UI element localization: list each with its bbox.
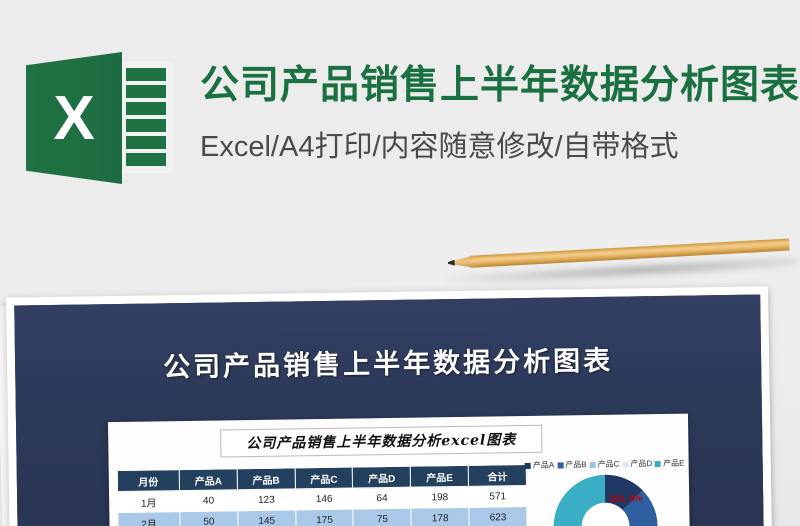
preview-card[interactable]: 公司产品销售上半年数据分析图表 公司产品销售上半年数据分析excel图表 月份 … <box>6 286 772 526</box>
table-cell: 40 <box>180 490 238 512</box>
table-col-header: 产品E <box>410 465 468 487</box>
excel-logo-letter: X <box>26 52 122 184</box>
legend-swatch <box>525 463 531 469</box>
brand-row: X 公司产品销售上半年数据分析图表 Excel/A4打印/内容随意修改/自带格式 <box>26 52 800 184</box>
table-cell: 1月 <box>118 491 180 513</box>
worksheet-title: 公司产品销售上半年数据分析excel图表 <box>246 429 516 453</box>
legend-label: 产品C <box>598 461 620 469</box>
table-col-header: 产品C <box>295 467 353 489</box>
page-title: 公司产品销售上半年数据分析图表 <box>200 64 800 109</box>
donut-graphic: 332, 9% 1221, <box>553 474 659 526</box>
worksheet-title-box: 公司产品销售上半年数据分析excel图表 <box>220 425 542 458</box>
table-col-header: 月份 <box>117 470 179 492</box>
donut-label: 332, 9% <box>609 494 642 504</box>
legend-item: 产品D <box>622 460 652 468</box>
legend-item: 产品A <box>525 462 554 470</box>
pencil-tip-wood <box>452 256 475 269</box>
preview-title: 公司产品销售上半年数据分析图表 <box>15 336 761 386</box>
legend-item: 产品E <box>655 460 684 468</box>
chart-legend: 产品A 产品B 产品C <box>529 458 681 470</box>
table-cell: 2月 <box>118 512 180 526</box>
legend-swatch <box>622 461 628 467</box>
preview-card-inner: 公司产品销售上半年数据分析图表 公司产品销售上半年数据分析excel图表 月份 … <box>14 294 764 526</box>
table-cell: 198 <box>411 486 469 508</box>
table-col-header: 产品D <box>353 466 411 488</box>
preview-card-stack: 公司产品销售上半年数据分析图表 公司产品销售上半年数据分析excel图表 月份 … <box>0 288 776 526</box>
legend-label: 产品E <box>663 460 684 468</box>
table-cell: 123 <box>237 489 295 511</box>
table-cell: 50 <box>180 511 238 526</box>
sales-table: 月份 产品A 产品B 产品C 产品D 产品E 合计 1月 <box>117 464 528 526</box>
legend-item: 产品C <box>590 461 620 469</box>
header-banner: X 公司产品销售上半年数据分析图表 Excel/A4打印/内容随意修改/自带格式 <box>0 0 800 240</box>
donut-chart: 产品A 产品B 产品C <box>529 458 683 526</box>
table-col-header: 合计 <box>468 464 526 486</box>
worksheet: 公司产品销售上半年数据分析excel图表 月份 产品A 产品B 产品C <box>108 414 690 526</box>
header-titles: 公司产品销售上半年数据分析图表 Excel/A4打印/内容随意修改/自带格式 <box>200 52 800 165</box>
legend-label: 产品B <box>565 461 586 469</box>
table-cell: 175 <box>295 509 353 526</box>
pencil-lead <box>448 260 455 266</box>
legend-item: 产品B <box>557 461 586 469</box>
table-cell: 145 <box>238 510 296 526</box>
table-cell: 571 <box>469 485 527 507</box>
screenshot-stage: X 公司产品销售上半年数据分析图表 Excel/A4打印/内容随意修改/自带格式… <box>0 0 800 526</box>
table-cell: 75 <box>353 508 411 526</box>
legend-swatch <box>557 462 563 468</box>
legend-swatch <box>655 461 661 467</box>
table-cell: 178 <box>411 507 469 526</box>
legend-swatch <box>590 462 596 468</box>
table-col-header: 产品B <box>237 468 295 490</box>
legend-label: 产品A <box>533 462 554 470</box>
page-subtitle: Excel/A4打印/内容随意修改/自带格式 <box>200 123 800 165</box>
table-cell: 623 <box>469 506 527 526</box>
legend-label: 产品D <box>630 460 652 468</box>
excel-logo-icon: X <box>26 52 178 184</box>
table-cell: 64 <box>353 487 411 509</box>
table-cell: 146 <box>295 488 353 510</box>
table-col-header: 产品A <box>179 469 237 491</box>
